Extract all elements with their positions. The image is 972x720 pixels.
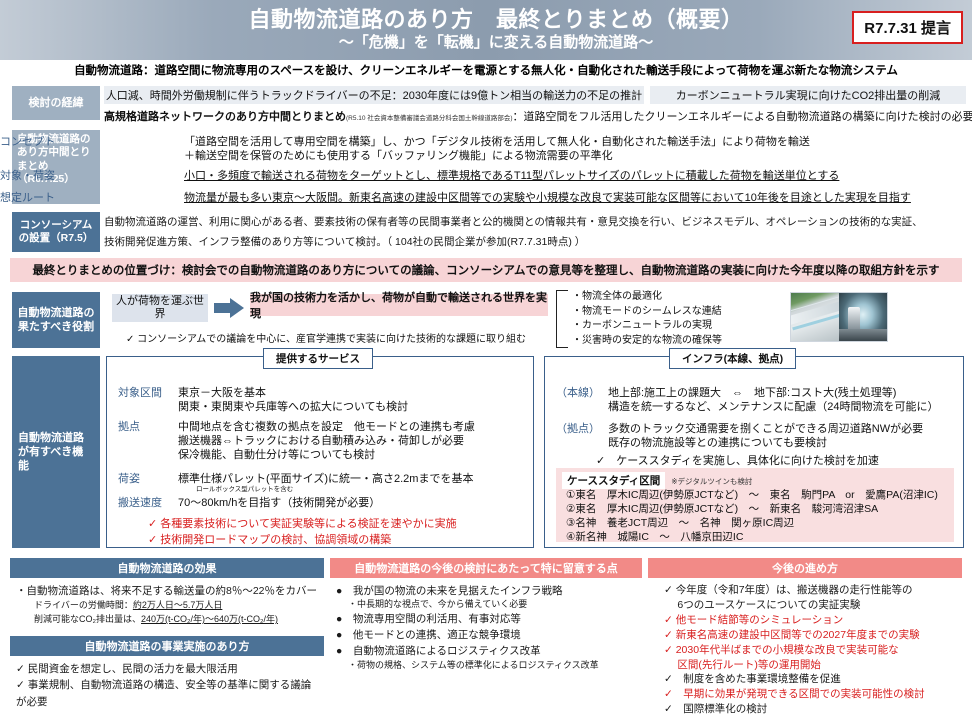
business-panel-body: ✓ 民間資金を想定し、民間の活力を最大限活用 ✓ 事業規制、自動物流道路の構造、… xyxy=(10,656,324,710)
infra-text-hub-2: 既存の物流施設等との連携についても要検討 xyxy=(608,434,827,450)
definition-band: 自動物流道路：道路空間に物流専用のスペースを設け、クリーンエネルギーを電源とする… xyxy=(0,60,972,80)
role-current-world: 人が荷物を運ぶ世界 xyxy=(112,294,208,322)
next-item: ✓ 制度を含めた事業環境整備を促進 xyxy=(664,672,958,687)
effect-line-3-pre: 削減可能なCO₂排出量は、 xyxy=(34,614,141,624)
caution-item: ● 物流専用空間の利活用、有事対応等 xyxy=(336,611,638,627)
caution-item: ● 我が国の物流の未来を見据えたインフラ戦略 xyxy=(336,583,638,599)
service-text-hub-3: 保冷機能、自動仕分け等についても検討 xyxy=(178,446,375,462)
service-text-section-2: 関東・東関東や兵庫等への拡大についても検討 xyxy=(178,398,408,414)
service-label-load: 荷姿 xyxy=(118,470,140,486)
caution-item-sub: ・荷物の規格、システム等の標準化によるロジスティクス改革 xyxy=(336,660,638,672)
interim-text-concept-2: ＋輸送空間を保管のためにも使用する「バッファリング機能」による物流需要の平準化 xyxy=(184,147,613,163)
service-label-speed: 搬送速度 xyxy=(118,494,162,510)
effect-panel-title: 自動物流道路の効果 xyxy=(10,558,324,578)
next-item: 区間(先行ルート)等の運用開始 xyxy=(664,658,958,673)
effect-line-1: ・自動物流道路は、将来不足する輸送量の約8％～22％をカバー xyxy=(16,583,320,599)
next-item: ✓ 他モード結節等のシミュレーション xyxy=(664,613,958,628)
role-benefit-item: ・物流全体の最適化 xyxy=(572,290,722,305)
next-item: ✓ 早期に効果が発現できる区間での実装可能性の検討 xyxy=(664,687,958,702)
background-interim-summary-line: 高規格道路ネットワークのあり方中間とりまとめ(R5.10 社会資本整備審議会道路… xyxy=(104,108,966,124)
page-header: 自動物流道路のあり方 最終とりまとめ（概要） ～「危機」を「転機」に変える自動物… xyxy=(0,0,972,60)
next-item: ✓ 今年度（令和7年度）は、搬送機器の走行性能等の xyxy=(664,583,958,598)
role-illustration-photos xyxy=(790,292,888,342)
background-band-carbon-neutral: カーボンニュートラル実現に向けたCO2排出量の削減 xyxy=(650,86,966,104)
background-band-driver-shortage: 人口減、時間外労働規制に伴うトラックドライバーの不足：2030年度には9億トン相… xyxy=(104,86,644,104)
page-title: 自動物流道路のあり方 最終とりまとめ（概要） xyxy=(20,8,972,33)
case-study-header: ケーススタディ区間※デジタルツインも検討 xyxy=(562,472,948,489)
interim-text-target: 小口・多頻度で輸送される荷物をターゲットとし、標準規格であるT11型パレットサイ… xyxy=(184,167,839,183)
caution-panel-title: 自動物流道路の今後の検討にあたって特に留意する点 xyxy=(330,558,642,578)
infra-panel-title: インフラ(本線、拠点) xyxy=(669,348,796,369)
next-item: ✓ 新東名高速の建設中区間等での2027年度までの実験 xyxy=(664,628,958,643)
role-benefit-item: ・カーボンニュートラルの実現 xyxy=(572,319,722,334)
effect-panel-body: ・自動物流道路は、将来不足する輸送量の約8％～22％をカバー ドライバーの労働時… xyxy=(10,578,324,627)
header-title-group: 自動物流道路のあり方 最終とりまとめ（概要） ～「危機」を「転機」に変える自動物… xyxy=(0,8,972,52)
bottom-panel-next-steps: 今後の進め方 ✓ 今年度（令和7年度）は、搬送機器の走行性能等の 6つのユースケ… xyxy=(648,558,962,716)
infra-check: ✓ ケーススタディを実施し、具体化に向けた検討を加速 xyxy=(596,452,879,468)
proposal-date-badge: R7.7.31 提言 xyxy=(852,11,963,44)
service-text-speed: 70～80km/hを目指す（技術開発が必要） xyxy=(178,494,380,510)
service-panel-title: 提供するサービス xyxy=(263,348,373,369)
case-study-note: ※デジタルツインも検討 xyxy=(671,477,752,486)
interim-label-route: 想定ルート xyxy=(0,189,55,205)
service-text-load-2: ロールボックス型パレットを含む xyxy=(196,483,293,493)
background-interim-rest: ：道路空間をフル活用したクリーンエネルギーによる自動物流道路の構築に向けた検討の… xyxy=(512,111,972,123)
section-chip-background: 検討の経緯 xyxy=(12,86,100,120)
service-label-section: 対象区間 xyxy=(118,384,162,400)
role-benefit-list: ・物流全体の最適化 ・物流モードのシームレスな連結 ・カーボンニュートラルの実現… xyxy=(572,290,722,348)
effect-line-2-value: 約2万人日～5.7万人日 xyxy=(133,600,223,610)
bottom-panel-caution: 自動物流道路の今後の検討にあたって特に留意する点 ● 我が国の物流の未来を見据え… xyxy=(330,558,642,716)
photo-tunnel-vehicle xyxy=(839,293,887,341)
bottom-panel-effect-and-business: 自動物流道路の効果 ・自動物流道路は、将来不足する輸送量の約8％～22％をカバー… xyxy=(10,558,324,716)
caution-panel-body: ● 我が国の物流の未来を見据えたインフラ戦略 ・中長期的な視点で、今から備えてい… xyxy=(330,578,642,671)
section-chip-functions: 自動物流道路が有すべき機能 xyxy=(12,356,100,548)
service-label-hub: 拠点 xyxy=(118,418,140,434)
case-study-line: ①東名 厚木IC周辺(伊勢原JCTなど) ～ 東名 駒門PA or 愛鷹PA(沼… xyxy=(566,489,948,503)
service-check-2: ✓ 技術開発ロードマップの検討、協調領域の構築 xyxy=(148,531,391,547)
section-chip-consortium: コンソーシアムの設置（R7.5） xyxy=(12,212,100,252)
interim-label-concept: コンセプト xyxy=(0,133,55,149)
right-arrow-icon xyxy=(214,298,244,318)
case-study-tag: ケーススタディ区間 xyxy=(562,472,665,489)
effect-line-3: 削減可能なCO₂排出量は、240万(t-CO₂/年)～640万(t-CO₂/年) xyxy=(16,613,320,627)
case-study-line: ②東名 厚木IC周辺(伊勢原JCTなど) ～ 新東名 駿河湾沼津SA xyxy=(566,503,948,517)
case-study-line: ④新名神 城陽IC ～ 八幡京田辺IC xyxy=(566,531,948,545)
next-item: 6つのユースケースについての実証実験 xyxy=(664,598,958,613)
interim-label-target: 対象・荷姿 xyxy=(0,167,55,183)
effect-line-2: ドライバーの労働時間：約2万人日～5.7万人日 xyxy=(16,599,320,613)
role-benefit-item: ・災害時の安定的な物流の確保等 xyxy=(572,334,722,349)
role-benefit-item: ・物流モードのシームレスな連結 xyxy=(572,305,722,320)
page-subtitle: ～「危機」を「転機」に変える自動物流道路～ xyxy=(20,34,972,52)
background-interim-bold: 高規格道路ネットワークのあり方中間とりまとめ xyxy=(104,111,346,123)
role-future-world: 我が国の技術力を活かし、荷物が自動で輸送される世界を実現 xyxy=(250,294,548,316)
role-check-line: ✓ コンソーシアムでの議論を中心に、産官学連携で実装に向けた技術的な課題に取り組… xyxy=(126,330,526,345)
case-study-line: ③名神 養老JCT周辺 ～ 名神 関ヶ原IC周辺 xyxy=(566,517,948,531)
next-item: ✓ 2030年代半ばまでの小規模な改良で実装可能な xyxy=(664,643,958,658)
business-item: ✓ 事業規制、自動物流道路の構造、安全等の基準に関する議論が必要 xyxy=(16,677,320,710)
service-check-1: ✓ 各種要素技術について実証実験等による検証を速やかに実施 xyxy=(148,515,457,531)
next-item: ✓ 国際標準化の検討 xyxy=(664,702,958,717)
consortium-text-1: 自動物流道路の運営、利用に関心がある者、要素技術の保有者等の民間事業者と公的機関… xyxy=(104,214,923,229)
caution-item: ● 自動物流道路によるロジスティクス改革 xyxy=(336,643,638,659)
caution-item-sub: ・中長期的な視点で、今から備えていく必要 xyxy=(336,599,638,611)
photo-conveyor-road xyxy=(791,293,839,341)
positioning-band: 最終とりまとめの位置づけ：検討会での自動物流道路のあり方についての議論、コンソー… xyxy=(10,258,962,282)
consortium-text-2: 技術開発促進方策、インフラ整備のあり方等について検討。（ 104社の民間企業が参… xyxy=(104,234,585,249)
effect-line-3-value: 240万(t-CO₂/年)～640万(t-CO₂/年) xyxy=(141,614,278,624)
infra-label-hub: （拠点） xyxy=(556,420,600,436)
caution-item: ● 他モードとの連携、適正な競争環境 xyxy=(336,627,638,643)
infra-label-mainline: （本線） xyxy=(556,384,600,400)
background-interim-source: (R5.10 社会資本整備審議会道路分科会国土幹線道路部会) xyxy=(346,115,512,122)
effect-line-2-pre: ドライバーの労働時間： xyxy=(34,600,133,610)
next-panel-title: 今後の進め方 xyxy=(648,558,962,578)
section-chip-role: 自動物流道路の果たすべき役割 xyxy=(12,292,100,348)
business-panel-title: 自動物流道路の事業実施のあり方 xyxy=(10,636,324,656)
case-study-box: ケーススタディ区間※デジタルツインも検討 ①東名 厚木IC周辺(伊勢原JCTなど… xyxy=(556,468,954,542)
brace-decoration xyxy=(556,290,568,348)
next-panel-body: ✓ 今年度（令和7年度）は、搬送機器の走行性能等の 6つのユースケースについての… xyxy=(648,578,962,717)
interim-text-route: 物流量が最も多い東京～大阪間。新東名高速の建設中区間等での実験や小規模な改良で実… xyxy=(184,189,911,205)
infra-text-mainline-2: 構造を統一するなど、メンテナンスに配慮（24時間物流を可能に） xyxy=(608,398,938,414)
business-item: ✓ 民間資金を想定し、民間の活力を最大限活用 xyxy=(16,661,320,677)
